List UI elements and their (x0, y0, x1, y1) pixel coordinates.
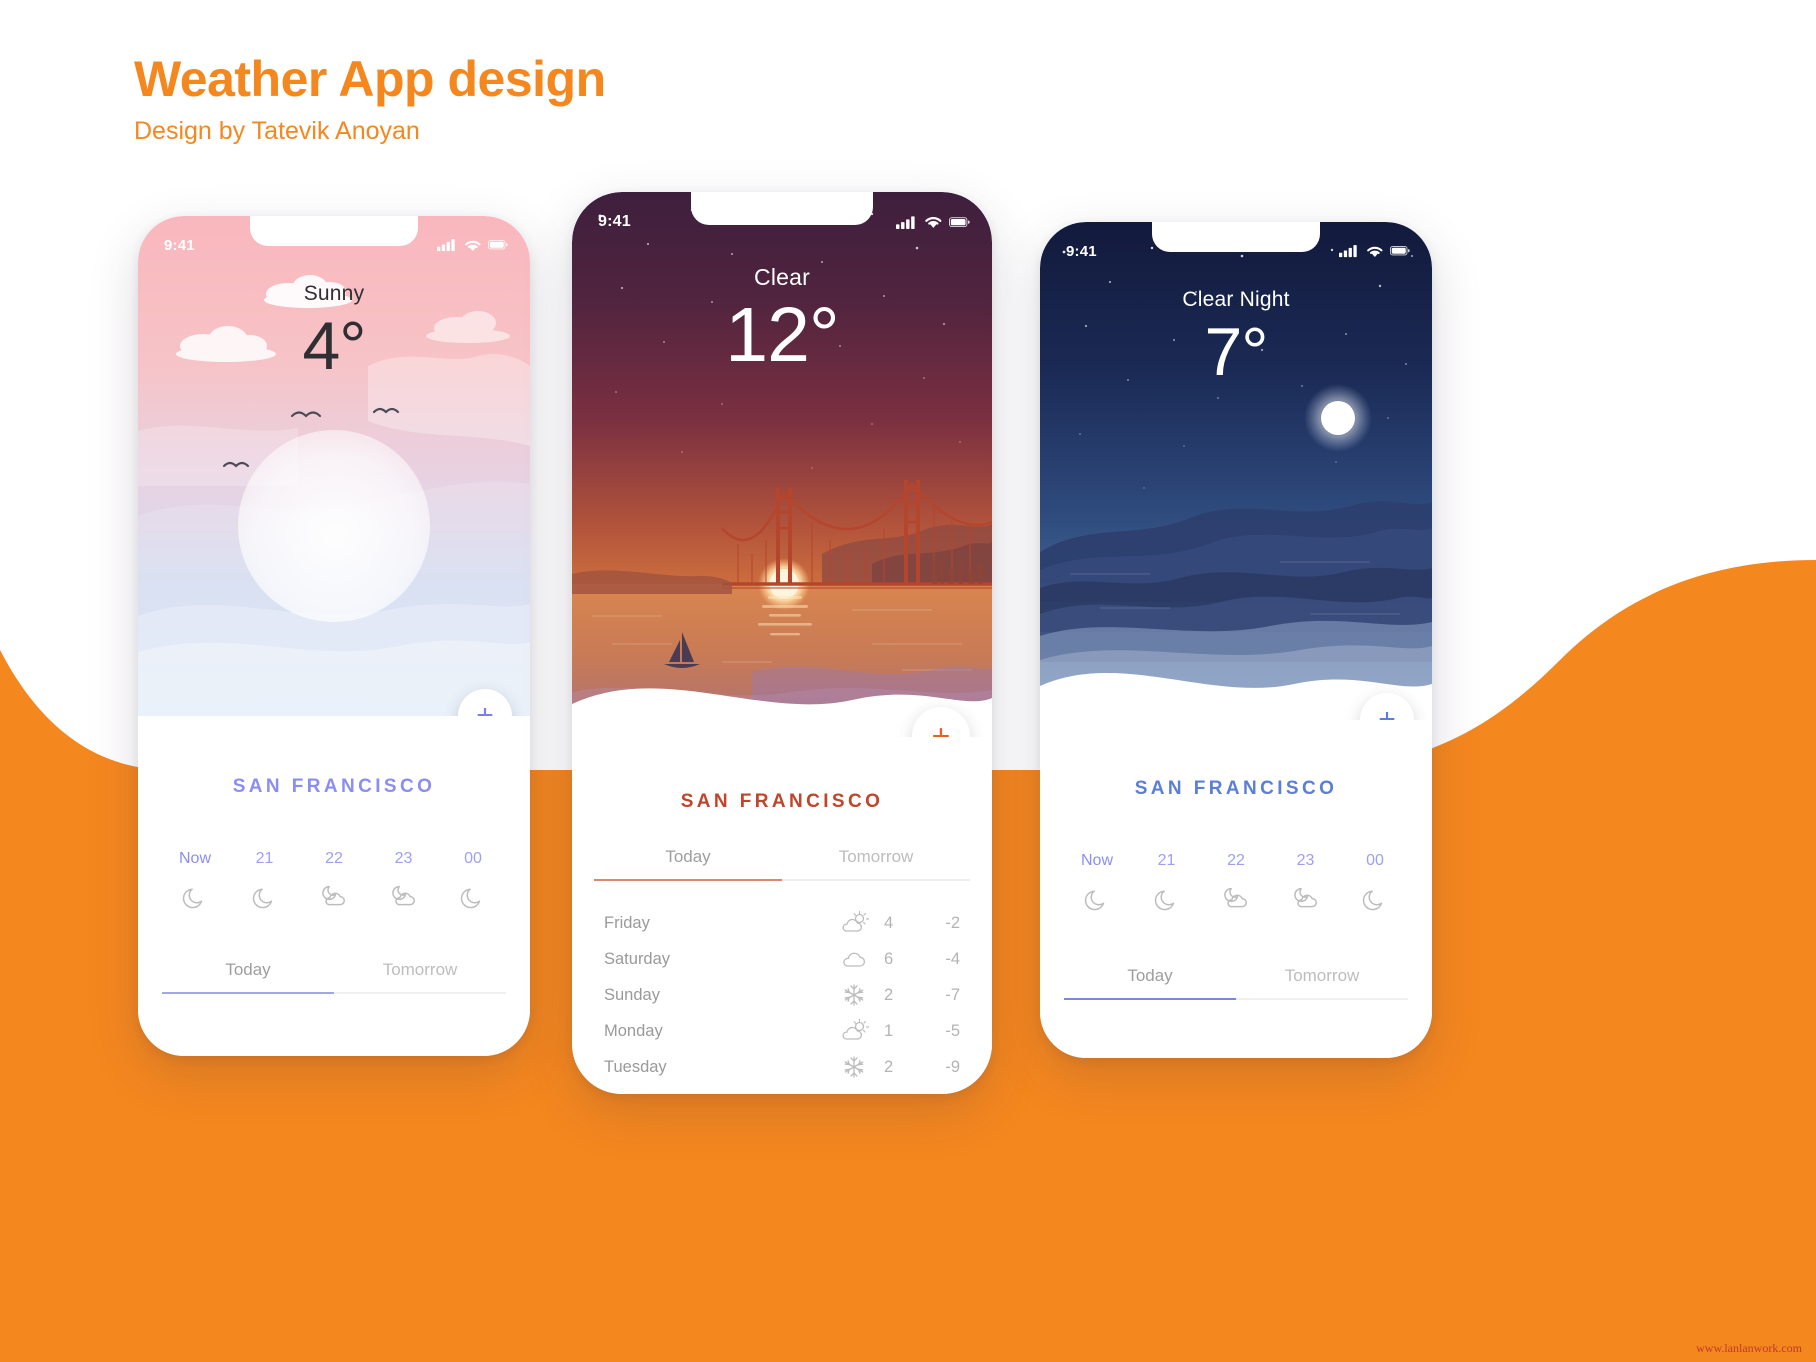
snow-icon (824, 982, 884, 1008)
hour-label: 23 (377, 850, 431, 868)
hour-item[interactable]: 00 (1348, 852, 1402, 916)
battery-icon (488, 240, 508, 249)
forecast-row[interactable]: Saturday 6 -4 (604, 941, 960, 977)
hour-item[interactable]: 21 (238, 850, 292, 914)
tab-tomorrow[interactable]: Tomorrow (1236, 966, 1408, 998)
signal-icon (896, 215, 917, 229)
moon-icon (238, 880, 292, 914)
phone-mockup-sunny: 9:41 Sunny 4° + SAN FRANCISCO Now (138, 216, 530, 1056)
moon-icon (1070, 882, 1124, 916)
weather-illustration-sunny: 9:41 Sunny 4° + (138, 216, 530, 716)
moon-icon (168, 880, 222, 914)
moon-cloud-icon (1209, 882, 1263, 916)
tab-tomorrow[interactable]: Tomorrow (782, 847, 970, 879)
forecast-low: -9 (945, 1058, 960, 1077)
forecast-low: -2 (945, 914, 960, 933)
weather-headline: Clear 12° (572, 264, 992, 377)
status-time: 9:41 (1066, 243, 1097, 260)
signal-icon (1339, 244, 1359, 257)
hour-label: 21 (1140, 852, 1194, 870)
forecast-panel: SAN FRANCISCO Now 21 22 (138, 716, 530, 1056)
wifi-icon (1365, 244, 1385, 259)
status-time: 9:41 (598, 213, 631, 231)
hourly-forecast: Now 21 22 2 (138, 850, 530, 914)
wifi-icon (463, 238, 483, 253)
hour-label: 00 (446, 850, 500, 868)
phone-notch (691, 192, 873, 225)
phone-mockup-clear: 9:41 Clear 12° + SAN FRANCISCO Today Tom… (572, 192, 992, 1094)
weather-condition: Clear (572, 264, 992, 291)
battery-icon (1390, 246, 1410, 255)
cloud-icon (824, 946, 884, 972)
forecast-high: 2 (884, 986, 893, 1005)
city-name: SAN FRANCISCO (572, 791, 992, 813)
tab-today[interactable]: Today (594, 847, 782, 879)
hour-item[interactable]: Now (1070, 852, 1124, 916)
day-tabs: Today Tomorrow (1064, 966, 1408, 1000)
sun-cloud-icon (824, 1018, 884, 1044)
hour-item[interactable]: Now (168, 850, 222, 914)
moon-icon (1140, 882, 1194, 916)
hour-label: 21 (238, 850, 292, 868)
city-name: SAN FRANCISCO (1040, 778, 1432, 800)
daily-forecast-list: Friday 4 -2 Saturday 6 (572, 905, 992, 1085)
moon-icon (1348, 882, 1402, 916)
weather-illustration-night: 9:41 Clear Night 7° + (1040, 222, 1432, 720)
forecast-row[interactable]: Tuesday 2 -9 (604, 1049, 960, 1085)
hourly-forecast: Now 21 22 2 (1040, 852, 1432, 916)
sun-cloud-icon (824, 910, 884, 936)
forecast-day: Saturday (604, 950, 824, 969)
moon-cloud-icon (377, 880, 431, 914)
forecast-low: -7 (945, 986, 960, 1005)
forecast-row[interactable]: Sunday 2 -7 (604, 977, 960, 1013)
forecast-high: 2 (884, 1058, 893, 1077)
moon-icon (446, 880, 500, 914)
forecast-high: 6 (884, 950, 893, 969)
forecast-day: Tuesday (604, 1058, 824, 1077)
wifi-icon (923, 214, 944, 230)
watermark: www.lanlanwork.com (1696, 1341, 1802, 1356)
city-name: SAN FRANCISCO (138, 776, 530, 798)
status-time: 9:41 (164, 237, 195, 254)
tab-today[interactable]: Today (1064, 966, 1236, 998)
hour-label: 00 (1348, 852, 1402, 870)
weather-condition: Sunny (138, 282, 530, 306)
forecast-panel: SAN FRANCISCO Now 21 22 (1040, 720, 1432, 1058)
hour-item[interactable]: 22 (307, 850, 361, 914)
weather-temperature: 7° (1040, 316, 1432, 388)
weather-temperature: 12° (572, 295, 992, 377)
phone-notch (250, 216, 418, 246)
hour-label: Now (168, 850, 222, 868)
day-tabs: Today Tomorrow (594, 847, 970, 881)
forecast-panel: SAN FRANCISCO Today Tomorrow Friday 4 -2 (572, 737, 992, 1094)
hour-label: Now (1070, 852, 1124, 870)
hour-item[interactable]: 23 (1279, 852, 1333, 916)
hour-item[interactable]: 23 (377, 850, 431, 914)
hour-item[interactable]: 22 (1209, 852, 1263, 916)
hour-label: 22 (1209, 852, 1263, 870)
forecast-high: 4 (884, 914, 893, 933)
tab-today[interactable]: Today (162, 960, 334, 992)
tab-tomorrow[interactable]: Tomorrow (334, 960, 506, 992)
forecast-day: Sunday (604, 986, 824, 1005)
page-header: Weather App design Design by Tatevik Ano… (134, 52, 606, 146)
page-title: Weather App design (134, 52, 606, 107)
hour-item[interactable]: 21 (1140, 852, 1194, 916)
page-subtitle: Design by Tatevik Anoyan (134, 117, 606, 146)
weather-headline: Sunny 4° (138, 282, 530, 382)
forecast-day: Friday (604, 914, 824, 933)
snow-icon (824, 1054, 884, 1080)
moon-cloud-icon (1279, 882, 1333, 916)
hour-label: 23 (1279, 852, 1333, 870)
hour-item[interactable]: 00 (446, 850, 500, 914)
forecast-row[interactable]: Friday 4 -2 (604, 905, 960, 941)
day-tabs: Today Tomorrow (162, 960, 506, 994)
phone-mockup-clear-night: 9:41 Clear Night 7° + SAN FRANCISCO Now (1040, 222, 1432, 1058)
forecast-row[interactable]: Monday 1 -5 (604, 1013, 960, 1049)
forecast-high: 1 (884, 1022, 893, 1041)
moon-cloud-icon (307, 880, 361, 914)
weather-condition: Clear Night (1040, 288, 1432, 312)
weather-headline: Clear Night 7° (1040, 288, 1432, 388)
forecast-day: Monday (604, 1022, 824, 1041)
weather-temperature: 4° (138, 310, 530, 382)
weather-illustration-clear: 9:41 Clear 12° + (572, 192, 992, 737)
forecast-low: -4 (945, 950, 960, 969)
forecast-low: -5 (945, 1022, 960, 1041)
battery-icon (949, 217, 970, 227)
phone-notch (1152, 222, 1320, 252)
hour-label: 22 (307, 850, 361, 868)
signal-icon (437, 238, 457, 251)
